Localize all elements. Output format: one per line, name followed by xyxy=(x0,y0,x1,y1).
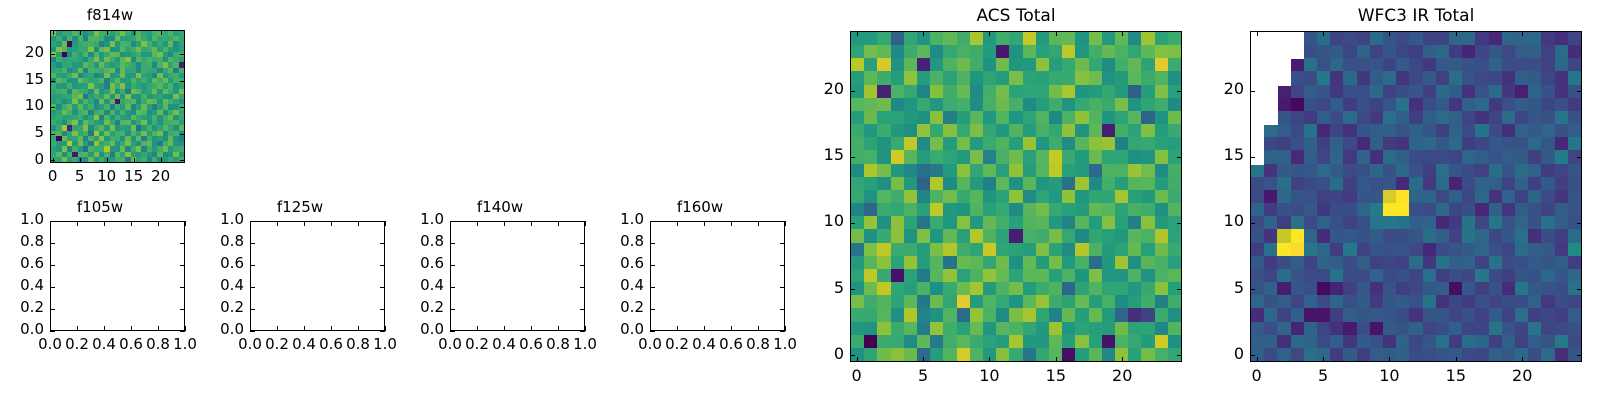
xtick-acs_total xyxy=(1056,357,1057,362)
ytick-f105w xyxy=(50,309,55,310)
xtick-top-wfc3_ir_total xyxy=(1522,31,1523,36)
panel-title-acs-total: ACS Total xyxy=(850,6,1182,26)
ytick-f160w xyxy=(650,287,655,288)
xtick-f160w xyxy=(731,326,732,331)
ytick-f814w xyxy=(50,54,55,55)
ytick-f105w xyxy=(50,243,55,244)
xtick-top-f105w xyxy=(104,221,105,226)
xtick-top-f105w xyxy=(77,221,78,226)
ytick-f814w xyxy=(50,81,55,82)
ytick-right-f105w xyxy=(180,331,185,332)
ytick-right-f105w xyxy=(180,309,185,310)
heatmap-acs-total xyxy=(851,32,1181,361)
masked-cell-row xyxy=(1251,32,1304,46)
yticklabel-f160w: 0.0 xyxy=(594,320,644,338)
xtick-wfc3_ir_total xyxy=(1257,357,1258,362)
yticklabel-acs_total: 5 xyxy=(794,278,844,297)
yticklabel-f105w: 0.4 xyxy=(0,276,44,294)
xtick-f125w xyxy=(331,326,332,331)
yticklabel-f125w: 0.0 xyxy=(194,320,244,338)
yticklabel-f814w: 20 xyxy=(0,43,44,61)
ytick-f160w xyxy=(650,331,655,332)
masked-cell-row xyxy=(1251,45,1304,59)
heatmap-f814w xyxy=(51,31,184,162)
ytick-acs_total xyxy=(850,157,855,158)
xtick-f125w xyxy=(277,326,278,331)
ytick-right-f125w xyxy=(380,243,385,244)
xtick-top-f125w xyxy=(304,221,305,226)
ytick-right-wfc3_ir_total xyxy=(1577,355,1582,356)
xtick-top-acs_total xyxy=(857,31,858,36)
ytick-f140w xyxy=(450,309,455,310)
xticklabel-wfc3_ir_total: 20 xyxy=(1492,366,1552,385)
xtick-top-f160w xyxy=(758,221,759,226)
yticklabel-f105w: 0.0 xyxy=(0,320,44,338)
ytick-f125w xyxy=(250,243,255,244)
yticklabel-wfc3_ir_total: 20 xyxy=(1194,79,1244,98)
yticklabel-f105w: 1.0 xyxy=(0,210,44,228)
masked-cell-row xyxy=(1251,58,1291,72)
xtick-top-f140w xyxy=(450,221,451,226)
xtick-acs_total xyxy=(1122,357,1123,362)
xtick-f814w xyxy=(134,158,135,163)
xtick-top-acs_total xyxy=(989,31,990,36)
xtick-top-f814w xyxy=(53,30,54,35)
axes-acs-total[interactable] xyxy=(850,31,1182,362)
yticklabel-f160w: 0.8 xyxy=(594,232,644,250)
axes-f125w[interactable] xyxy=(250,221,385,331)
ytick-right-f814w xyxy=(180,81,185,82)
xtick-top-acs_total xyxy=(1056,31,1057,36)
xtick-top-f140w xyxy=(504,221,505,226)
ytick-right-f160w xyxy=(780,265,785,266)
xtick-f105w xyxy=(104,326,105,331)
ytick-right-f814w xyxy=(180,134,185,135)
panel-title-f814w: f814w xyxy=(0,6,220,24)
ytick-right-f814w xyxy=(180,160,185,161)
ytick-f814w xyxy=(50,160,55,161)
xtick-top-f140w xyxy=(477,221,478,226)
panel-f105w: f105w 0.00.20.40.60.81.00.00.20.40.60.81… xyxy=(0,190,200,400)
panel-acs-total: ACS Total 0510152005101520 xyxy=(800,0,1200,400)
xticklabel-acs_total: 15 xyxy=(1026,366,1086,385)
axes-wfc3-ir-total[interactable] xyxy=(1250,31,1582,362)
xtick-f140w xyxy=(558,326,559,331)
yticklabel-f814w: 10 xyxy=(0,96,44,114)
xtick-top-f814w xyxy=(107,30,108,35)
xticklabel-f814w: 20 xyxy=(131,167,191,185)
ytick-right-f160w xyxy=(780,243,785,244)
xtick-top-f160w xyxy=(677,221,678,226)
yticklabel-wfc3_ir_total: 5 xyxy=(1194,278,1244,297)
ytick-acs_total xyxy=(850,223,855,224)
yticklabel-f160w: 0.6 xyxy=(594,254,644,272)
yticklabel-f140w: 0.2 xyxy=(394,298,444,316)
ytick-f814w xyxy=(50,107,55,108)
xtick-f160w xyxy=(704,326,705,331)
ytick-wfc3_ir_total xyxy=(1250,223,1255,224)
xtick-f105w xyxy=(131,326,132,331)
xtick-acs_total xyxy=(989,357,990,362)
xtick-top-wfc3_ir_total xyxy=(1257,31,1258,36)
heatmap-wfc3-ir-total xyxy=(1251,32,1581,361)
xtick-top-f140w xyxy=(558,221,559,226)
yticklabel-f140w: 0.6 xyxy=(394,254,444,272)
xtick-wfc3_ir_total xyxy=(1389,357,1390,362)
panel-f814w: f814w 0510152005101520 xyxy=(0,0,220,190)
xtick-top-acs_total xyxy=(1122,31,1123,36)
xtick-top-f105w xyxy=(131,221,132,226)
ytick-f105w xyxy=(50,265,55,266)
xtick-f105w xyxy=(158,326,159,331)
ytick-f160w xyxy=(650,265,655,266)
yticklabel-f125w: 1.0 xyxy=(194,210,244,228)
xticklabel-acs_total: 10 xyxy=(959,366,1019,385)
masked-cell-row xyxy=(1251,85,1278,99)
xtick-top-f105w xyxy=(50,221,51,226)
xtick-acs_total xyxy=(857,357,858,362)
ytick-right-f160w xyxy=(780,221,785,222)
ytick-right-f160w xyxy=(780,331,785,332)
xtick-f160w xyxy=(758,326,759,331)
xtick-wfc3_ir_total xyxy=(1456,357,1457,362)
xticklabel-wfc3_ir_total: 5 xyxy=(1293,366,1353,385)
panel-f140w: f140w 0.00.20.40.60.81.00.00.20.40.60.81… xyxy=(400,190,600,400)
xtick-top-f125w xyxy=(277,221,278,226)
ytick-f140w xyxy=(450,265,455,266)
xtick-top-acs_total xyxy=(923,31,924,36)
xtick-top-f814w xyxy=(80,30,81,35)
ytick-right-f814w xyxy=(180,107,185,108)
ytick-f160w xyxy=(650,243,655,244)
xtick-top-wfc3_ir_total xyxy=(1456,31,1457,36)
panel-wfc3-ir-total: WFC3 IR Total 0510152005101520 xyxy=(1200,0,1600,400)
xtick-f160w xyxy=(677,326,678,331)
yticklabel-f140w: 0.8 xyxy=(394,232,444,250)
ytick-right-f140w xyxy=(580,243,585,244)
ytick-right-wfc3_ir_total xyxy=(1577,157,1582,158)
yticklabel-f125w: 0.2 xyxy=(194,298,244,316)
xtick-top-f125w xyxy=(331,221,332,226)
yticklabel-f814w: 0 xyxy=(0,150,44,168)
xtick-f105w xyxy=(185,326,186,331)
xtick-f814w xyxy=(161,158,162,163)
xtick-top-f140w xyxy=(585,221,586,226)
ytick-f160w xyxy=(650,309,655,310)
axes-f814w[interactable] xyxy=(50,30,185,163)
ytick-f140w xyxy=(450,287,455,288)
ytick-right-wfc3_ir_total xyxy=(1577,223,1582,224)
xtick-f125w xyxy=(358,326,359,331)
ytick-right-wfc3_ir_total xyxy=(1577,91,1582,92)
ytick-wfc3_ir_total xyxy=(1250,157,1255,158)
xtick-f125w xyxy=(385,326,386,331)
yticklabel-f125w: 0.6 xyxy=(194,254,244,272)
ytick-right-f105w xyxy=(180,287,185,288)
yticklabel-f105w: 0.8 xyxy=(0,232,44,250)
xtick-top-wfc3_ir_total xyxy=(1323,31,1324,36)
axes-f105w[interactable] xyxy=(50,221,185,331)
xtick-f160w xyxy=(785,326,786,331)
ytick-right-acs_total xyxy=(1177,157,1182,158)
ytick-f105w xyxy=(50,287,55,288)
yticklabel-f140w: 0.4 xyxy=(394,276,444,294)
yticklabel-f125w: 0.8 xyxy=(194,232,244,250)
xtick-top-f105w xyxy=(158,221,159,226)
xtick-f814w xyxy=(80,158,81,163)
ytick-wfc3_ir_total xyxy=(1250,91,1255,92)
yticklabel-wfc3_ir_total: 15 xyxy=(1194,145,1244,164)
ytick-right-f105w xyxy=(180,221,185,222)
yticklabel-f160w: 1.0 xyxy=(594,210,644,228)
ytick-right-f125w xyxy=(380,331,385,332)
xtick-top-f814w xyxy=(161,30,162,35)
panel-title-wfc3-ir-total: WFC3 IR Total xyxy=(1250,6,1582,26)
ytick-f125w xyxy=(250,309,255,310)
ytick-right-wfc3_ir_total xyxy=(1577,289,1582,290)
xticklabel-wfc3_ir_total: 10 xyxy=(1359,366,1419,385)
ytick-right-f814w xyxy=(180,54,185,55)
xtick-f140w xyxy=(504,326,505,331)
ytick-right-f140w xyxy=(580,309,585,310)
yticklabel-wfc3_ir_total: 0 xyxy=(1194,344,1244,363)
xtick-acs_total xyxy=(923,357,924,362)
yticklabel-f814w: 15 xyxy=(0,70,44,88)
ytick-wfc3_ir_total xyxy=(1250,355,1255,356)
ytick-f125w xyxy=(250,265,255,266)
ytick-f140w xyxy=(450,331,455,332)
xtick-top-f160w xyxy=(731,221,732,226)
xtick-top-f160w xyxy=(704,221,705,226)
ytick-acs_total xyxy=(850,355,855,356)
xticklabel-wfc3_ir_total: 15 xyxy=(1426,366,1486,385)
xtick-wfc3_ir_total xyxy=(1323,357,1324,362)
xticklabel-acs_total: 20 xyxy=(1092,366,1152,385)
ytick-right-acs_total xyxy=(1177,91,1182,92)
yticklabel-f140w: 1.0 xyxy=(394,210,444,228)
ytick-acs_total xyxy=(850,289,855,290)
ytick-right-f160w xyxy=(780,309,785,310)
xtick-f140w xyxy=(585,326,586,331)
xtick-top-wfc3_ir_total xyxy=(1389,31,1390,36)
ytick-right-f140w xyxy=(580,331,585,332)
yticklabel-acs_total: 10 xyxy=(794,211,844,230)
panel-f160w: f160w 0.00.20.40.60.81.00.00.20.40.60.81… xyxy=(600,190,800,400)
ytick-f125w xyxy=(250,331,255,332)
ytick-right-f125w xyxy=(380,221,385,222)
yticklabel-f125w: 0.4 xyxy=(194,276,244,294)
ytick-right-acs_total xyxy=(1177,355,1182,356)
xtick-top-f160w xyxy=(785,221,786,226)
xtick-f140w xyxy=(477,326,478,331)
ytick-right-acs_total xyxy=(1177,289,1182,290)
masked-cell-row xyxy=(1251,151,1264,165)
ytick-right-f125w xyxy=(380,287,385,288)
xtick-wfc3_ir_total xyxy=(1522,357,1523,362)
ytick-right-f105w xyxy=(180,265,185,266)
xticklabel-acs_total: 0 xyxy=(827,366,887,385)
ytick-f814w xyxy=(50,134,55,135)
xtick-top-f125w xyxy=(250,221,251,226)
ytick-f125w xyxy=(250,287,255,288)
ytick-wfc3_ir_total xyxy=(1250,289,1255,290)
xtick-top-f160w xyxy=(650,221,651,226)
xtick-f105w xyxy=(77,326,78,331)
xtick-top-f125w xyxy=(385,221,386,226)
ytick-right-f105w xyxy=(180,243,185,244)
ytick-right-f140w xyxy=(580,287,585,288)
masked-cell-row xyxy=(1251,72,1291,86)
masked-cell-row xyxy=(1251,138,1264,152)
ytick-acs_total xyxy=(850,91,855,92)
yticklabel-acs_total: 20 xyxy=(794,79,844,98)
ytick-right-f160w xyxy=(780,287,785,288)
xtick-top-f814w xyxy=(134,30,135,35)
masked-cell-row xyxy=(1251,98,1278,112)
yticklabel-acs_total: 15 xyxy=(794,145,844,164)
xtick-top-f105w xyxy=(185,221,186,226)
xtick-top-f140w xyxy=(531,221,532,226)
xtick-f140w xyxy=(531,326,532,331)
yticklabel-f105w: 0.2 xyxy=(0,298,44,316)
xtick-f125w xyxy=(304,326,305,331)
axes-f160w[interactable] xyxy=(650,221,785,331)
yticklabel-f160w: 0.2 xyxy=(594,298,644,316)
masked-cell-row xyxy=(1251,125,1264,139)
xtick-top-f125w xyxy=(358,221,359,226)
yticklabel-f814w: 5 xyxy=(0,123,44,141)
ytick-f140w xyxy=(450,243,455,244)
xtick-f814w xyxy=(107,158,108,163)
ytick-right-f140w xyxy=(580,265,585,266)
yticklabel-wfc3_ir_total: 10 xyxy=(1194,211,1244,230)
masked-cell-row xyxy=(1251,111,1278,125)
xticklabel-acs_total: 5 xyxy=(893,366,953,385)
ytick-right-f125w xyxy=(380,309,385,310)
axes-f140w[interactable] xyxy=(450,221,585,331)
xticklabel-wfc3_ir_total: 0 xyxy=(1227,366,1287,385)
yticklabel-f160w: 0.4 xyxy=(594,276,644,294)
ytick-right-f125w xyxy=(380,265,385,266)
ytick-right-acs_total xyxy=(1177,223,1182,224)
panel-f125w: f125w 0.00.20.40.60.81.00.00.20.40.60.81… xyxy=(200,190,400,400)
yticklabel-f105w: 0.6 xyxy=(0,254,44,272)
yticklabel-f140w: 0.0 xyxy=(394,320,444,338)
ytick-right-f140w xyxy=(580,221,585,222)
yticklabel-acs_total: 0 xyxy=(794,344,844,363)
ytick-f105w xyxy=(50,331,55,332)
